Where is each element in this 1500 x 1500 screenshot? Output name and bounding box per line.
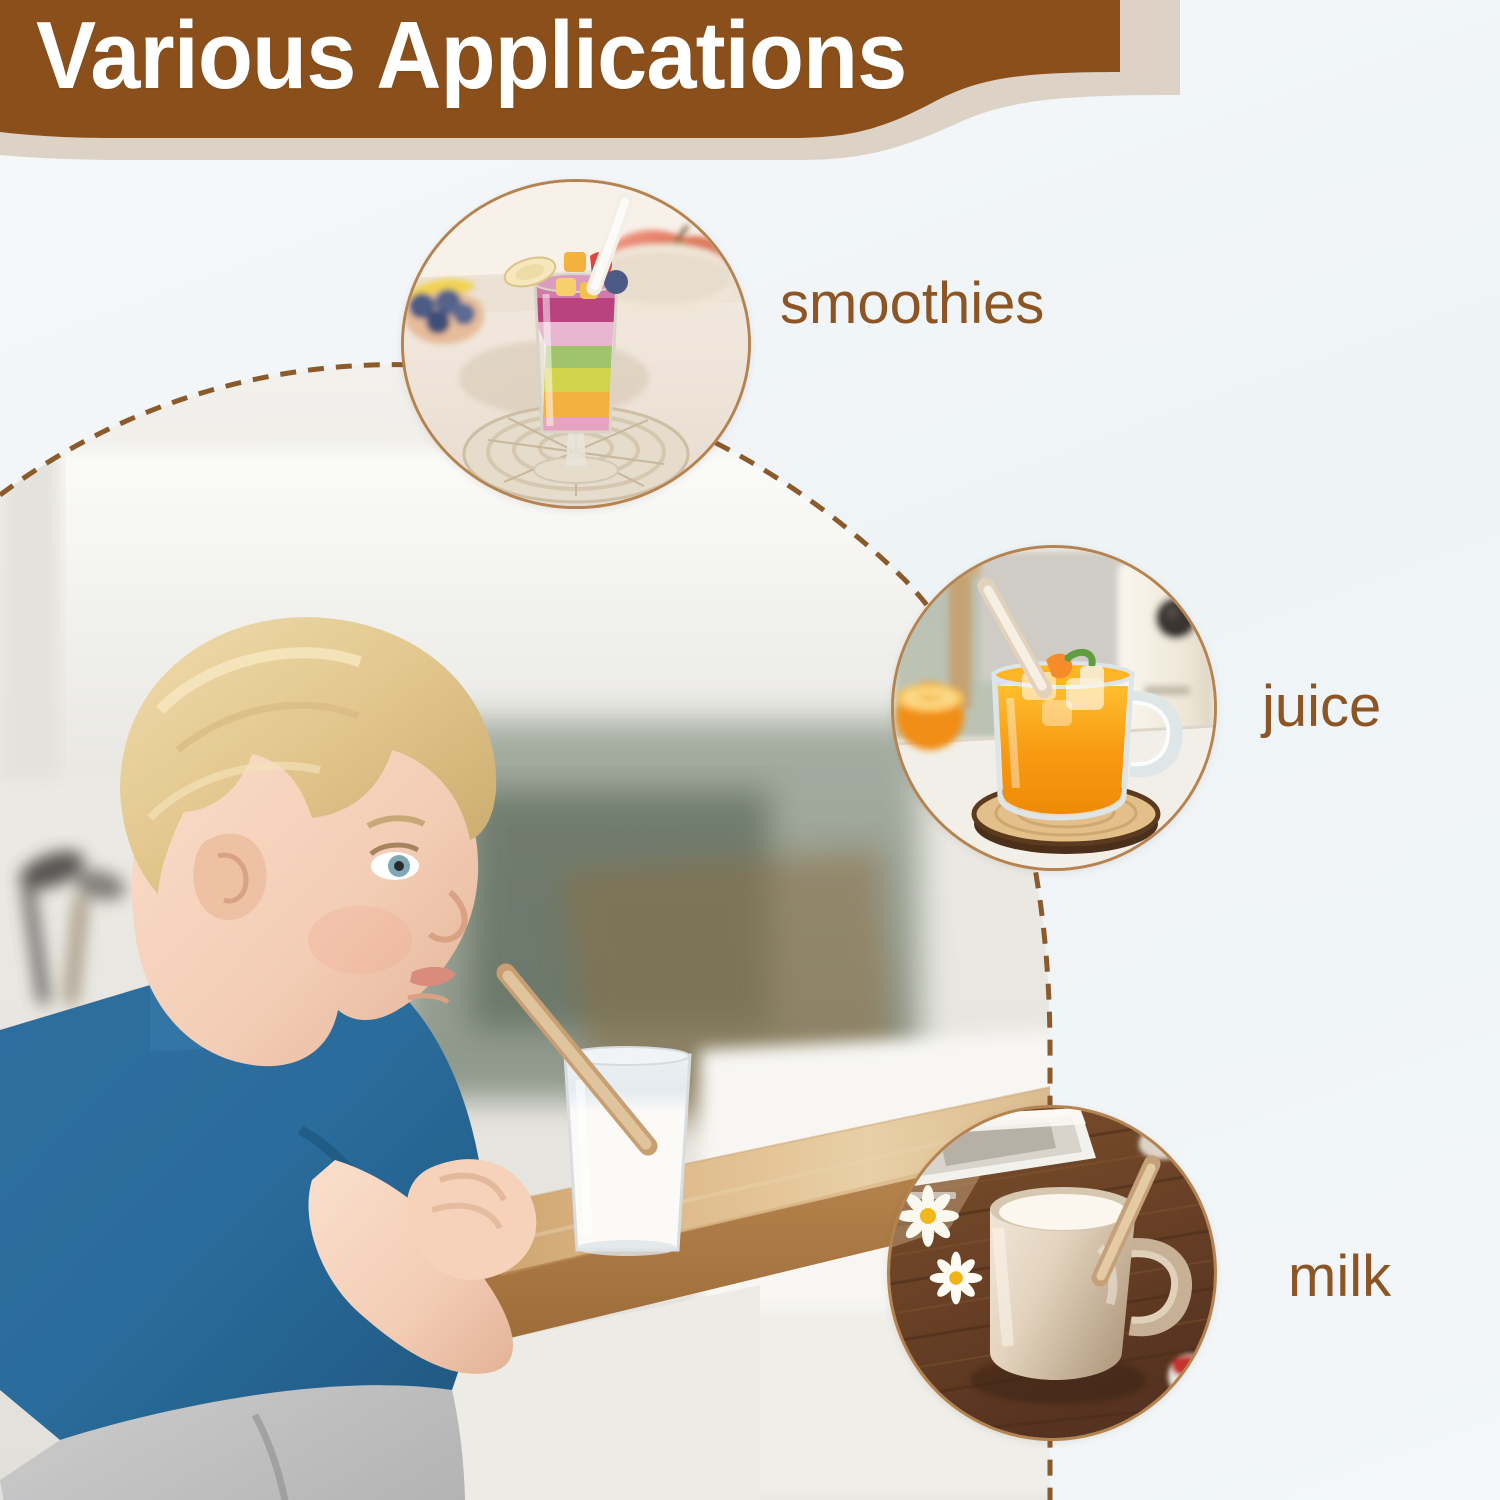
header-banner: Various Applications bbox=[0, 0, 1120, 160]
label-milk: milk bbox=[1288, 1248, 1391, 1306]
inset-smoothies[interactable] bbox=[404, 182, 748, 506]
infographic-canvas: Various Applications bbox=[0, 0, 1500, 1500]
label-juice: juice bbox=[1262, 678, 1381, 736]
page-title: Various Applications bbox=[36, 8, 906, 104]
orange-icon bbox=[896, 682, 964, 750]
inset-milk[interactable] bbox=[890, 1108, 1214, 1438]
inset-juice[interactable] bbox=[894, 548, 1214, 868]
label-smoothies: smoothies bbox=[780, 275, 1044, 333]
